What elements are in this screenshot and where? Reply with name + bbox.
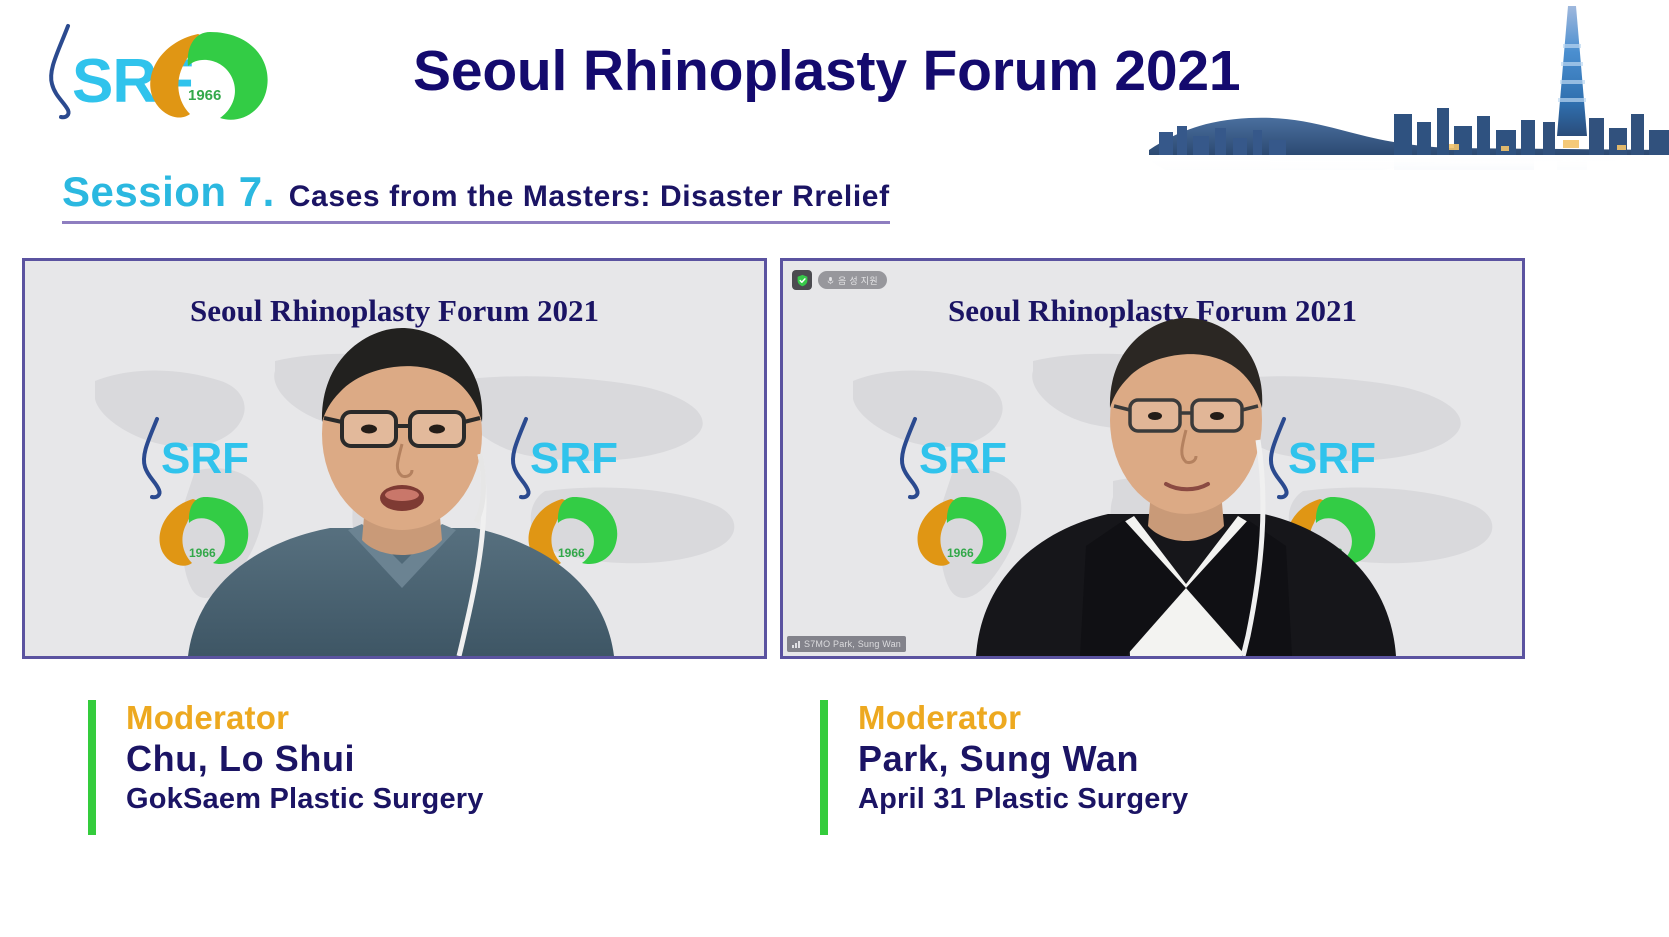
moderator-role: Moderator: [126, 700, 484, 737]
participant-video-left: [180, 326, 620, 656]
shield-check-icon[interactable]: [792, 270, 812, 290]
moderator-name: Park, Sung Wan: [858, 737, 1188, 781]
moderator-role: Moderator: [858, 700, 1188, 737]
srf-nose-heart-logo: SRF 1966: [38, 18, 338, 128]
moderator-affiliation: GokSaem Plastic Surgery: [126, 781, 484, 817]
page-header: SRF 1966 Seoul Rhinoplasty Forum 2021: [0, 0, 1669, 160]
participant-name-chip: S7MO Park, Sung Wan: [787, 636, 906, 652]
signal-bars-icon: [792, 640, 800, 648]
page-title: Seoul Rhinoplasty Forum 2021: [413, 38, 1240, 104]
session-subtitle: Cases from the Masters: Disaster Rrelief: [289, 180, 890, 214]
microphone-icon: [827, 276, 834, 285]
audio-support-chip[interactable]: 음 성 지원: [818, 271, 887, 289]
video-panel-left[interactable]: Seoul Rhinoplasty Forum 2021 SRF 1966 SR…: [22, 258, 767, 659]
session-number: Session 7.: [62, 168, 275, 216]
video-panel-right[interactable]: Seoul Rhinoplasty Forum 2021 SRF 1966 SR…: [780, 258, 1525, 659]
moderator-block-right: Moderator Park, Sung Wan April 31 Plasti…: [820, 700, 1188, 835]
audio-support-label: 음 성 지원: [838, 274, 878, 287]
participant-name-label: S7MO Park, Sung Wan: [804, 639, 901, 649]
moderator-affiliation: April 31 Plastic Surgery: [858, 781, 1188, 817]
moderator-name: Chu, Lo Shui: [126, 737, 484, 781]
seoul-skyline-graphic: [1149, 0, 1669, 170]
video-overlay-chips[interactable]: 음 성 지원: [792, 270, 887, 290]
participant-video-right: [976, 316, 1396, 656]
moderator-block-left: Moderator Chu, Lo Shui GokSaem Plastic S…: [88, 700, 484, 835]
svg-text:1966: 1966: [947, 546, 974, 560]
session-heading: Session 7. Cases from the Masters: Disas…: [62, 168, 890, 224]
logo-year-text: 1966: [188, 87, 221, 104]
